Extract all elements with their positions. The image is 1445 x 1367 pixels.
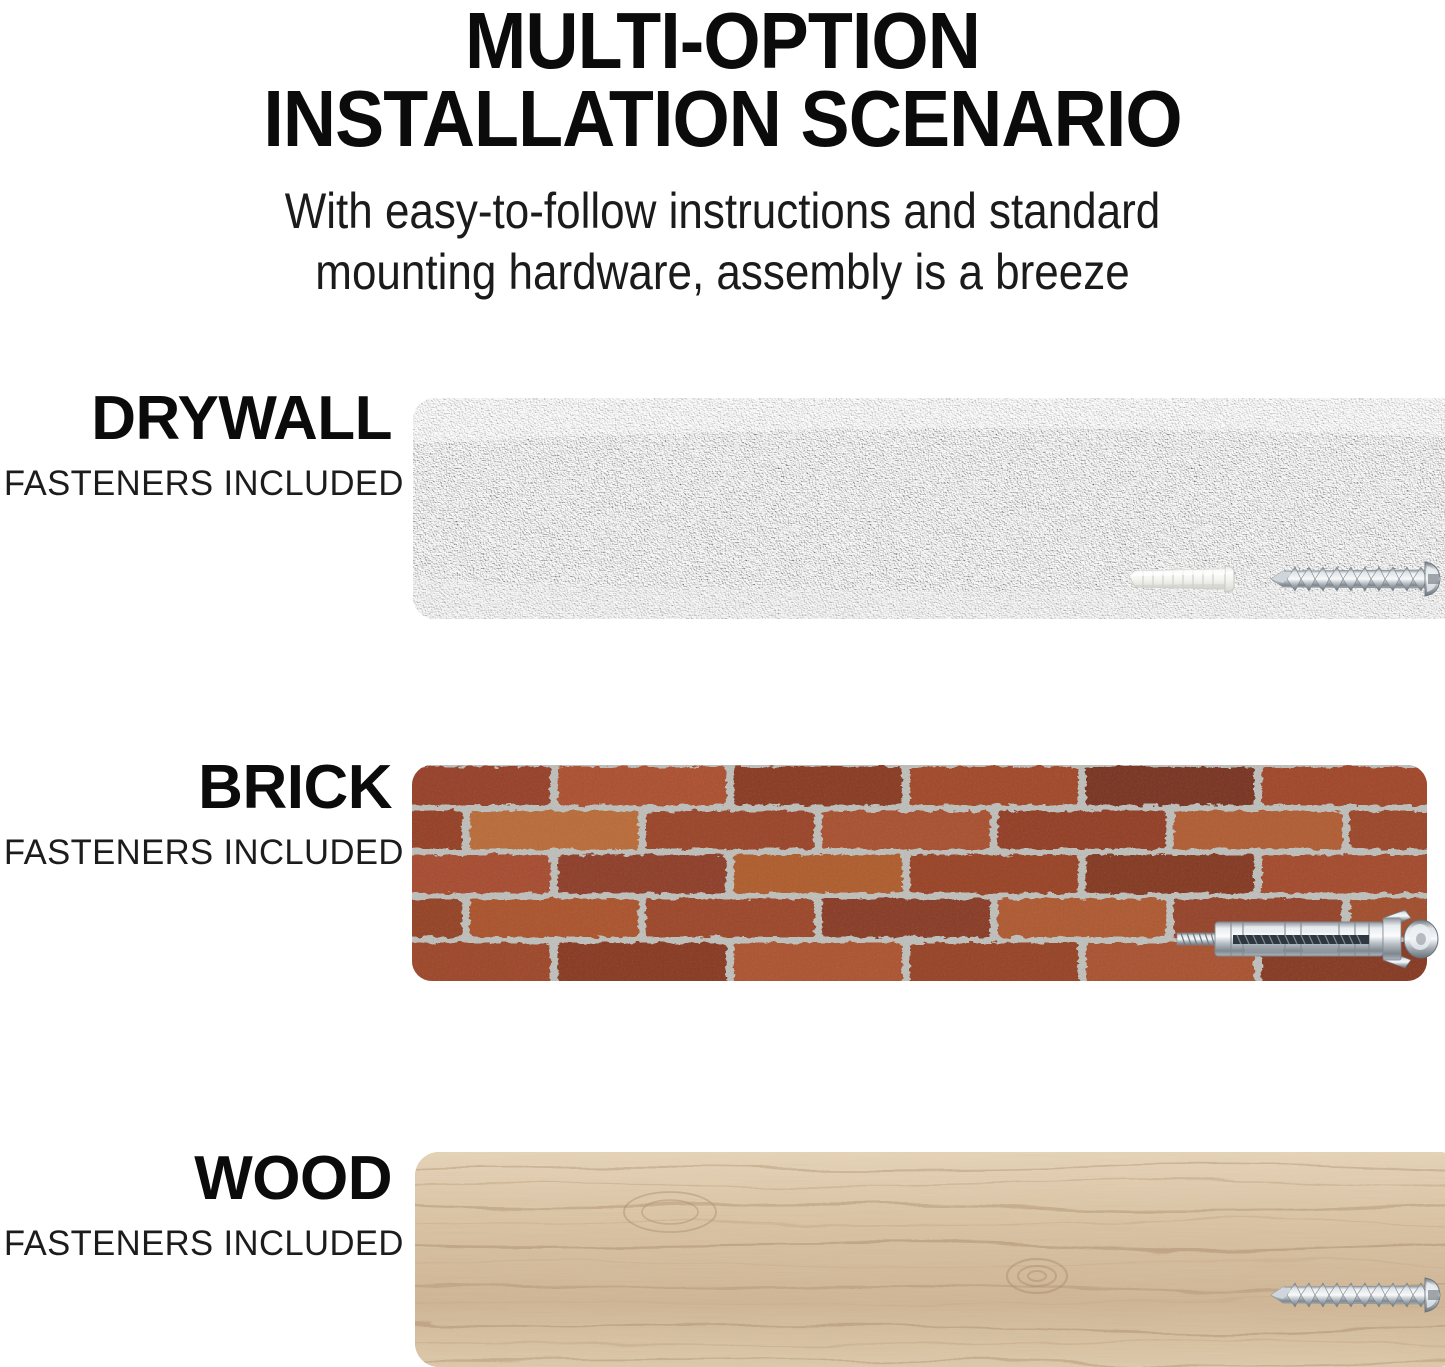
fasteners-included-wood: FASTENERS INCLUDED — [4, 1210, 392, 1261]
plastic-wall-anchor-icon — [1121, 559, 1251, 604]
material-name-wood: WOOD — [0, 1148, 392, 1210]
drywall-hardware-strip — [1053, 558, 1445, 605]
drywall-label-column: DRYWALL FASTENERS INCLUDED — [0, 388, 392, 501]
page-subtitle-line-2: mounting hardware, assembly is a breeze — [87, 242, 1359, 303]
fasteners-included-drywall: FASTENERS INCLUDED — [4, 450, 392, 501]
page-subtitle-line-1: With easy-to-follow instructions and sta… — [87, 181, 1359, 242]
flat-head-screw-icon — [1265, 558, 1445, 605]
fasteners-included-brick: FASTENERS INCLUDED — [4, 819, 392, 870]
material-row-drywall: DRYWALL FASTENERS INCLUDED — [0, 398, 1445, 620]
header-block: MULTI-OPTION INSTALLATION SCENARIO With … — [0, 0, 1445, 330]
material-row-brick: BRICK FASTENERS INCLUDED — [0, 765, 1445, 982]
page-title: MULTI-OPTION INSTALLATION SCENARIO — [58, 0, 1387, 159]
wood-label-column: WOOD FASTENERS INCLUDED — [0, 1148, 392, 1261]
page-title-line-1: MULTI-OPTION — [58, 2, 1387, 80]
page-title-line-2: INSTALLATION SCENARIO — [58, 80, 1387, 158]
flat-head-screw-icon — [1265, 1274, 1445, 1321]
material-name-brick: BRICK — [0, 757, 392, 819]
brick-label-column: BRICK FASTENERS INCLUDED — [0, 757, 392, 870]
brick-hardware-strip — [1053, 908, 1445, 975]
material-row-wood: WOOD FASTENERS INCLUDED — [0, 1152, 1445, 1367]
page-subtitle: With easy-to-follow instructions and sta… — [87, 159, 1359, 303]
material-name-drywall: DRYWALL — [0, 388, 392, 450]
wood-hardware-strip — [1053, 1274, 1445, 1321]
hollow-wall-molly-anchor-icon — [1173, 908, 1445, 975]
